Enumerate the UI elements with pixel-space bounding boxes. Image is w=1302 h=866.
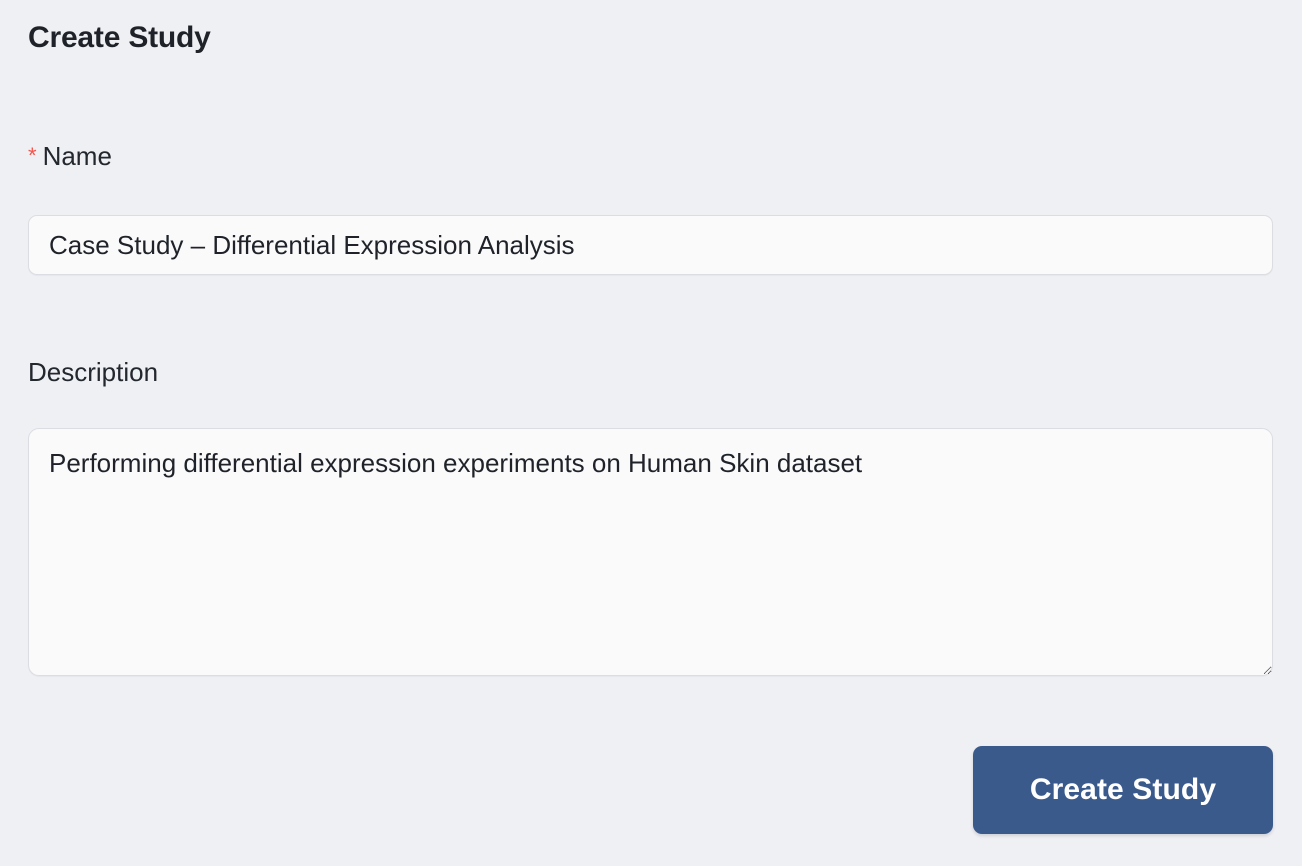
name-field-label: *Name — [28, 140, 112, 174]
page-title: Create Study — [28, 19, 211, 57]
create-study-button[interactable]: Create Study — [973, 746, 1273, 834]
required-asterisk-icon: * — [28, 142, 37, 171]
description-label-text: Description — [28, 357, 158, 387]
name-label-text: Name — [43, 141, 112, 171]
create-study-form: Create Study *Name Description Performin… — [0, 0, 1302, 866]
name-input[interactable] — [28, 215, 1273, 275]
description-textarea[interactable]: Performing differential expression exper… — [28, 428, 1273, 676]
form-actions: Create Study — [28, 746, 1273, 834]
description-field-label: Description — [28, 356, 158, 390]
